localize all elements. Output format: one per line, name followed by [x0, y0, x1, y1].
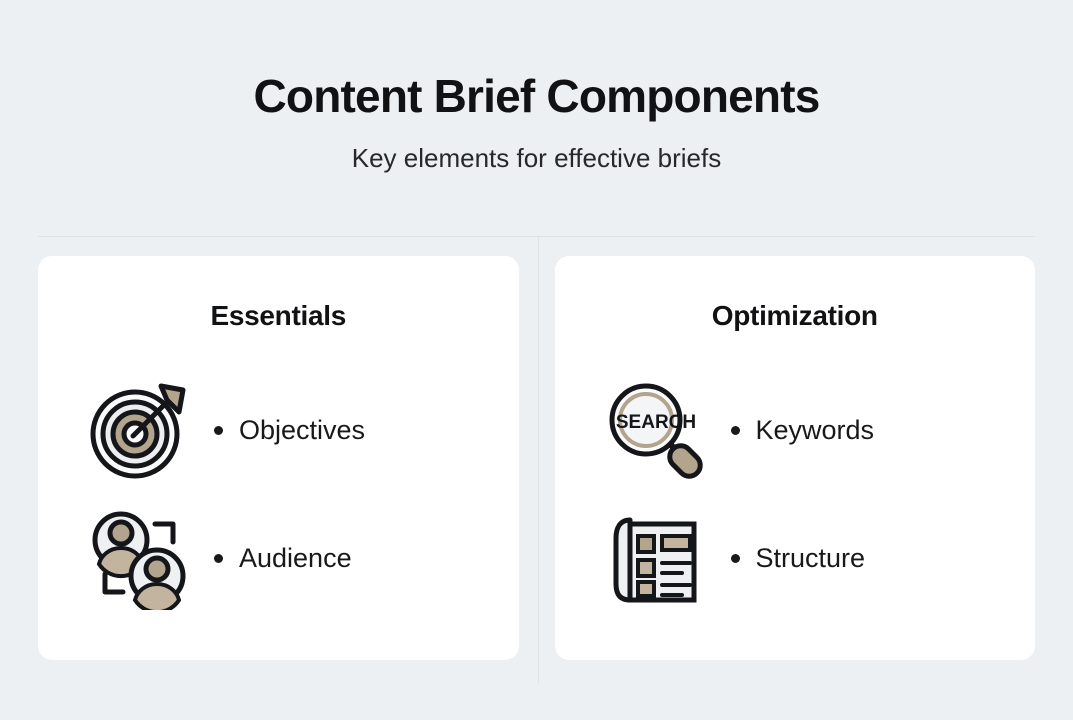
bullet-icon — [731, 554, 740, 563]
bullet-icon — [731, 426, 740, 435]
structure-document-icon — [581, 503, 731, 613]
slide-canvas: Content Brief Components Key elements fo… — [0, 0, 1073, 720]
page-subtitle: Key elements for effective briefs — [0, 120, 1073, 173]
list-item: Structure — [581, 494, 1010, 622]
bullet-icon — [214, 554, 223, 563]
horizontal-divider — [38, 236, 1035, 237]
target-icon — [64, 375, 214, 485]
bullet-icon — [214, 426, 223, 435]
card-rows-optimization: SEARCH Keywords — [581, 366, 1010, 622]
card-container: Essentials — [0, 256, 1073, 660]
list-item-label: Objectives — [239, 417, 365, 444]
search-icon: SEARCH — [581, 375, 731, 485]
list-item-label: Keywords — [756, 417, 875, 444]
card-optimization: Optimization SEARCH Keyw — [555, 256, 1036, 660]
list-item-objectives: Objectives — [214, 417, 365, 444]
list-item: SEARCH Keywords — [581, 366, 1010, 494]
card-essentials: Essentials — [38, 256, 519, 660]
card-rows-essentials: Objectives — [64, 366, 493, 622]
list-item-audience: Audience — [214, 545, 352, 572]
card-title-essentials: Essentials — [210, 302, 346, 330]
list-item-label: Structure — [756, 545, 866, 572]
audience-icon — [64, 503, 214, 613]
page-title: Content Brief Components — [0, 72, 1073, 120]
card-title-optimization: Optimization — [712, 302, 878, 330]
list-item-label: Audience — [239, 545, 352, 572]
list-item-keywords: Keywords — [731, 417, 875, 444]
list-item: Audience — [64, 494, 493, 622]
header: Content Brief Components Key elements fo… — [0, 0, 1073, 173]
search-icon-text: SEARCH — [615, 412, 695, 433]
list-item-structure: Structure — [731, 545, 866, 572]
list-item: Objectives — [64, 366, 493, 494]
